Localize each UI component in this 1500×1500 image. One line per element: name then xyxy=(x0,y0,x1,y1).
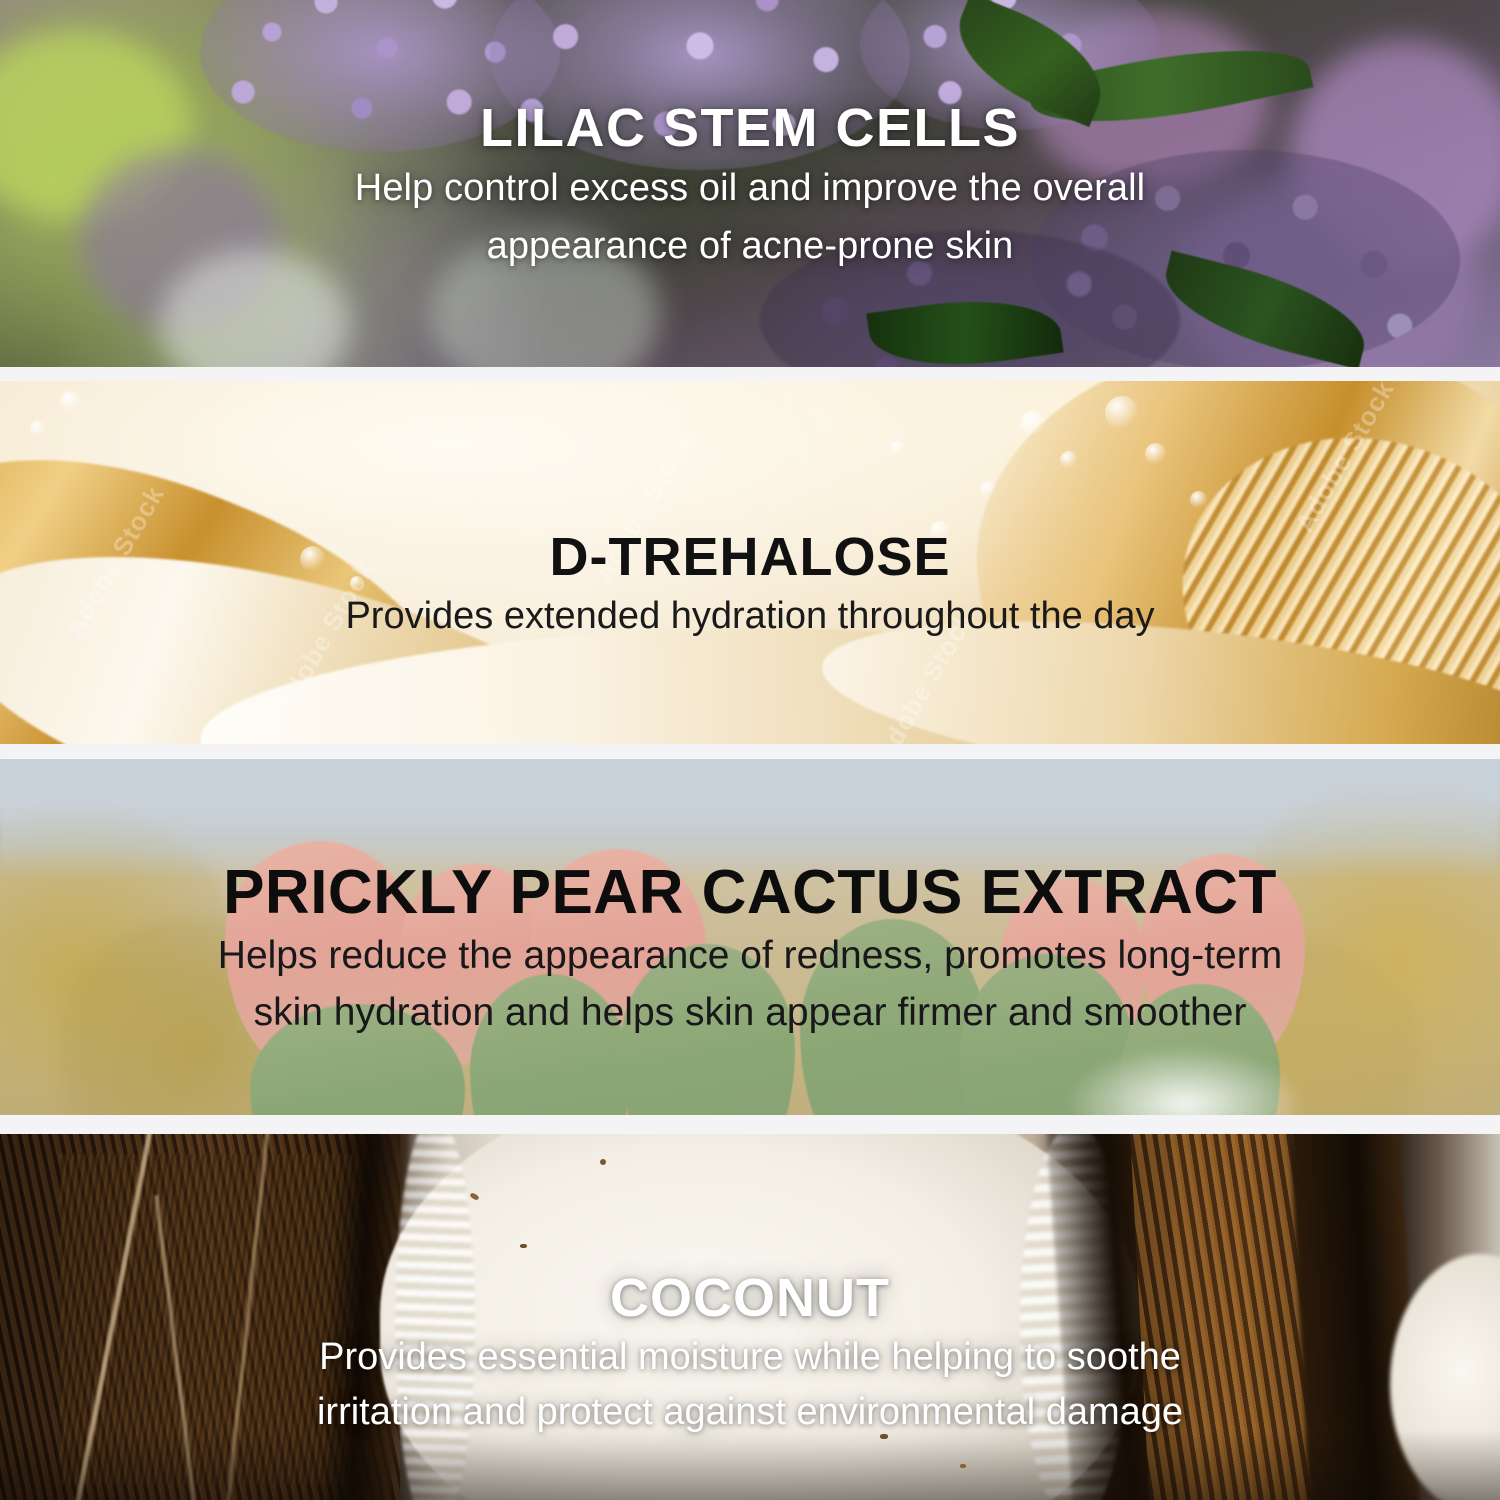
water-droplet xyxy=(1020,411,1046,437)
panel-d-trehalose: Adobe Stock Adobe Stock Adobe Stock Adob… xyxy=(0,381,1500,744)
panel-description-line-2: appearance of acne-prone skin xyxy=(0,222,1500,271)
water-droplet xyxy=(1060,451,1078,469)
debris-speck xyxy=(960,1464,966,1468)
water-droplet xyxy=(890,441,904,455)
water-droplet xyxy=(60,391,82,413)
panel-prickly-pear-cactus-extract: PRICKLY PEAR CACTUS EXTRACT Helps reduce… xyxy=(0,759,1500,1115)
panel-description-line-1: Provides extended hydration throughout t… xyxy=(0,592,1500,641)
panel-description-line-1: Provides essential moisture while helpin… xyxy=(0,1333,1500,1382)
water-droplet xyxy=(1105,396,1139,430)
panel-title: PRICKLY PEAR CACTUS EXTRACT xyxy=(0,860,1500,925)
coconut-panel-content: COCONUT Provides essential moisture whil… xyxy=(0,1196,1500,1437)
panel-description-line-2: irritation and protect against environme… xyxy=(0,1388,1500,1437)
water-droplet xyxy=(1145,443,1167,465)
ingredient-banner-stack: LILAC STEM CELLS Help control excess oil… xyxy=(0,0,1500,1500)
cactus-panel-content: PRICKLY PEAR CACTUS EXTRACT Helps reduce… xyxy=(0,836,1500,1038)
bottom-vignette xyxy=(0,1430,1500,1500)
panel-coconut: COCONUT Provides essential moisture whil… xyxy=(0,1134,1500,1500)
trehalose-panel-content: D-TREHALOSE Provides extended hydration … xyxy=(0,483,1500,641)
panel-title: D-TREHALOSE xyxy=(0,529,1500,586)
panel-title: LILAC STEM CELLS xyxy=(0,100,1500,157)
panel-description-line-1: Helps reduce the appearance of redness, … xyxy=(0,931,1500,982)
debris-speck xyxy=(600,1159,606,1165)
lilac-panel-content: LILAC STEM CELLS Help control excess oil… xyxy=(0,96,1500,271)
panel-description-line-1: Help control excess oil and improve the … xyxy=(0,164,1500,213)
panel-lilac-stem-cells: LILAC STEM CELLS Help control excess oil… xyxy=(0,0,1500,367)
water-droplet xyxy=(30,421,46,437)
panel-description-line-2: skin hydration and helps skin appear fir… xyxy=(0,988,1500,1039)
panel-title: COCONUT xyxy=(0,1270,1500,1327)
